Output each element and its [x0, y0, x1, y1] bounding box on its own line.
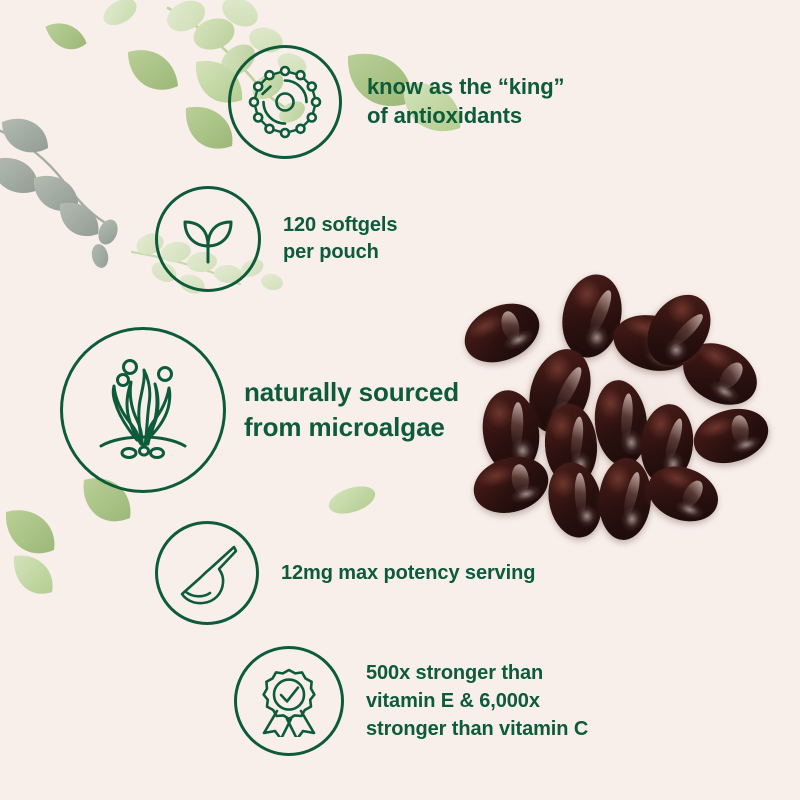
product-feature-infographic: know as the “king” of antioxidants 120 s… [0, 0, 800, 800]
feature-label: know as the “king” of antioxidants [367, 73, 564, 130]
seaweed-algae-icon [87, 354, 199, 466]
feature-potency-serving: 12mg max potency serving [155, 521, 535, 625]
feature-antioxidant: know as the “king” of antioxidants [228, 45, 564, 159]
feature-label: 12mg max potency serving [281, 560, 535, 586]
feature-icon-badge [234, 646, 344, 756]
feature-icon-badge [60, 327, 226, 493]
spoon-icon [172, 538, 242, 608]
award-rosette-check-icon [253, 665, 325, 737]
feature-icon-badge [155, 521, 259, 625]
feature-softgel-count: 120 softgels per pouch [155, 186, 397, 292]
sprout-leaves-icon [175, 206, 241, 272]
softgel-capsule-cluster [455, 262, 785, 562]
feature-label: 120 softgels per pouch [283, 212, 397, 266]
feature-icon-badge [228, 45, 342, 159]
feature-antioxidant-strength: 500x stronger than vitamin E & 6,000x st… [234, 646, 588, 756]
feature-icon-badge [155, 186, 261, 292]
feature-label: naturally sourced from microalgae [244, 375, 459, 444]
feature-microalgae-source: naturally sourced from microalgae [60, 327, 459, 493]
feature-label: 500x stronger than vitamin E & 6,000x st… [366, 659, 588, 743]
molecule-icon [248, 65, 322, 139]
